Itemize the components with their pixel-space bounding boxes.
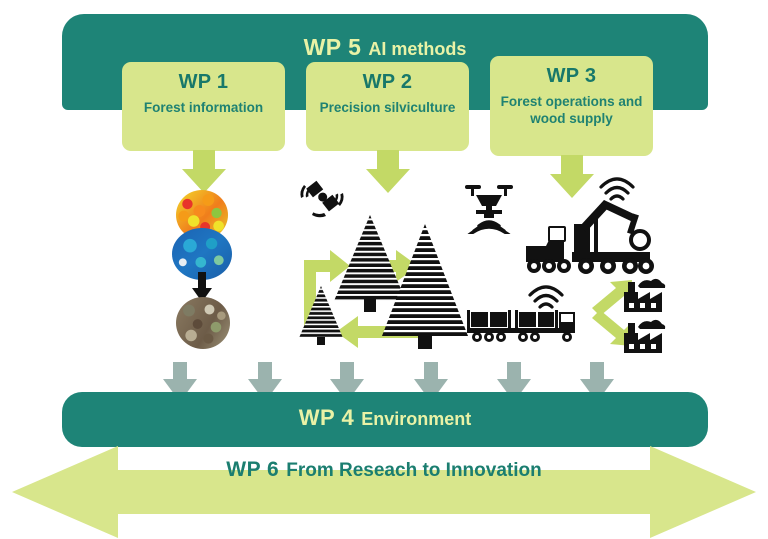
arrow-stem (173, 362, 187, 380)
wp4-label: Environment (361, 409, 471, 429)
arrow-stem (377, 150, 399, 170)
large-conifer-tree-icon (378, 222, 472, 350)
wp3-description: Forest operations and wood supply (490, 93, 653, 128)
wp4-bar: WP 4Environment (62, 392, 708, 447)
wp1-card[interactable]: WP 1 Forest information (122, 62, 285, 151)
harvester-icon (566, 186, 676, 282)
arrow-stem (424, 362, 438, 380)
wp1-description: Forest information (122, 99, 285, 116)
wp1-number: WP 1 (122, 71, 285, 94)
wp4-heading: WP 4Environment (62, 405, 708, 431)
wp4-number: WP 4 (299, 405, 354, 430)
green-down-arrow-icon (366, 150, 410, 194)
arrow-stem (258, 362, 272, 380)
diagram-canvas: WP 5AI methods WP 1 Forest information W… (0, 0, 768, 539)
arrow-stem (507, 362, 521, 380)
wp6-heading: WP 6From Reseach to Innovation (0, 458, 768, 482)
factory-icon (620, 317, 666, 355)
drone-icon (462, 178, 516, 234)
arrow-stem (590, 362, 604, 380)
green-down-arrow-icon (182, 150, 226, 194)
wp2-number: WP 2 (306, 71, 469, 94)
wp3-number: WP 3 (490, 65, 653, 88)
wp6-label: From Reseach to Innovation (286, 460, 541, 481)
wp2-card[interactable]: WP 2 Precision silviculture (306, 62, 469, 151)
arrow-head (366, 169, 410, 193)
arrow-stem (340, 362, 354, 380)
wp5-label: AI methods (368, 39, 466, 59)
arrow-stem (193, 150, 215, 170)
wp2-description: Precision silviculture (306, 99, 469, 116)
wp6-double-arrow: WP 6From Reseach to Innovation (0, 444, 768, 539)
factory-icon (620, 276, 666, 314)
wp3-card[interactable]: WP 3 Forest operations and wood supply (490, 56, 653, 156)
point-cloud-circle-icon (176, 297, 230, 349)
timber-truck-icon (465, 304, 585, 348)
wp6-number: WP 6 (226, 458, 279, 481)
arrow-stem (561, 155, 583, 175)
wp5-number: WP 5 (304, 34, 362, 60)
